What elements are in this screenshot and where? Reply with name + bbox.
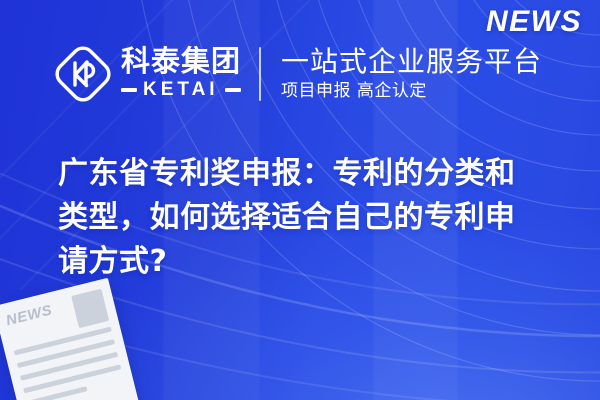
- slogan-main: 一站式企业服务平台: [281, 46, 542, 77]
- article-title: 广东省专利奖申报：专利的分类和 类型，如何选择适合自己的专利申 请方式?: [58, 152, 558, 284]
- ketai-kp-diamond-icon: [55, 46, 111, 102]
- slogan-sub: 项目申报 高企认定: [281, 81, 542, 102]
- brand-wordmark: 科泰集团 KETAI: [121, 47, 241, 101]
- header-divider: [259, 47, 261, 101]
- title-line-3: 请方式?: [58, 240, 558, 284]
- brand-name-en-row: KETAI: [121, 79, 241, 101]
- dash-left-icon: [121, 88, 137, 92]
- title-line-1: 广东省专利奖申报：专利的分类和: [58, 152, 558, 196]
- news-banner: NEWS 科泰集团 KETAI: [0, 0, 600, 400]
- dash-right-icon: [225, 88, 241, 92]
- banner-header: 科泰集团 KETAI 一站式企业服务平台 项目申报 高企认定: [0, 36, 600, 112]
- brand-logo[interactable]: 科泰集团 KETAI: [55, 46, 241, 102]
- news-badge: NEWS: [486, 5, 582, 39]
- title-line-2: 类型，如何选择适合自己的专利申: [58, 196, 558, 240]
- brand-name-cn: 科泰集团: [121, 44, 241, 78]
- slogan-block: 一站式企业服务平台 项目申报 高企认定: [281, 46, 542, 102]
- brand-name-en: KETAI: [143, 79, 219, 101]
